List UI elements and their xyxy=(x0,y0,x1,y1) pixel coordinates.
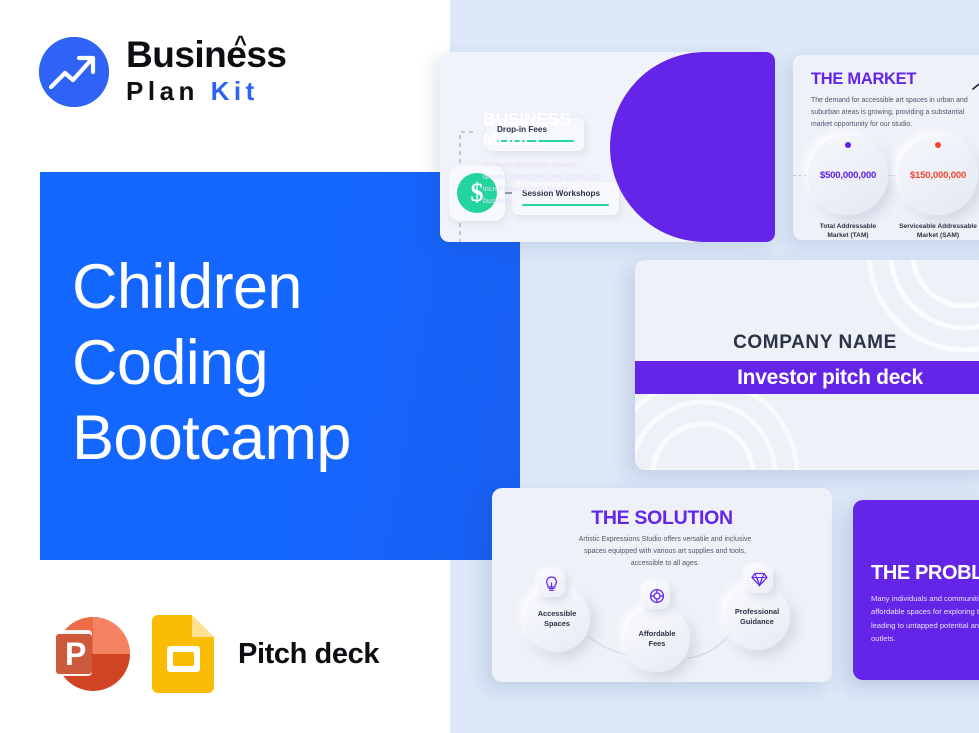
business-model-body: Revenue generation through diverse strea… xyxy=(483,159,601,207)
target-circle-icon xyxy=(643,582,670,609)
cover-subtitle-band: Investor pitch deck xyxy=(635,361,979,394)
solution-node-label: Accessible Spaces xyxy=(538,609,577,630)
circumflex-icon: ^ xyxy=(234,33,246,55)
solution-node-label: Affordable Fees xyxy=(639,629,676,650)
market-metric-caption-line1: Serviceable Addressable xyxy=(893,222,979,231)
page-title-line1: Children xyxy=(72,250,502,326)
market-metric[interactable]: $500,000,000 Total Addressable Market (T… xyxy=(803,135,893,240)
solution-node-label-line2: Spaces xyxy=(538,619,577,629)
market-metric-caption: Total Addressable Market (TAM) xyxy=(803,222,893,240)
solution-title: THE SOLUTION xyxy=(492,507,832,530)
market-metric-circle: $500,000,000 xyxy=(808,135,888,215)
format-badges: P Pitch deck xyxy=(40,608,379,700)
slide-cover[interactable]: COMPANY NAME Investor pitch deck xyxy=(635,260,979,470)
slide-solution[interactable]: THE SOLUTION Artistic Expressions Studio… xyxy=(492,488,832,682)
page-title-line2: Coding xyxy=(72,326,502,402)
status-dot xyxy=(935,142,941,148)
market-metric-caption-line1: Total Addressable xyxy=(803,222,893,231)
market-metric-caption-line2: Market (TAM) xyxy=(803,231,893,240)
solution-node-label: Professional Guidance xyxy=(735,607,779,628)
growth-arrow-circle-icon xyxy=(39,37,109,107)
market-metric-amount: $500,000,000 xyxy=(820,170,876,181)
market-metric-circle: $150,000,000 xyxy=(898,135,978,215)
cover-subtitle: Investor pitch deck xyxy=(737,366,923,390)
slide-business-model[interactable]: Drop-in Fees Session Workshops Commissio… xyxy=(440,52,775,242)
market-metric[interactable]: $150,000,000 Serviceable Addressable Mar… xyxy=(893,135,979,240)
business-model-title: BUSINESS MODEL xyxy=(483,110,598,150)
company-name: COMPANY NAME xyxy=(635,332,979,354)
solution-node-label-line2: Fees xyxy=(639,639,676,649)
brand-logo-line1-text: Business xyxy=(126,34,287,75)
svg-text:P: P xyxy=(65,636,86,672)
poster-canvas: Business ^ Plan Kit Children Coding Boot… xyxy=(0,0,979,733)
slide-problem[interactable]: THE PROBLEM Many individuals and communi… xyxy=(853,500,979,680)
solution-node-label-line1: Affordable xyxy=(639,629,676,639)
solution-node-circle: Professional Guidance xyxy=(724,584,790,650)
page-title-line3: Bootcamp xyxy=(72,401,502,477)
slide-market[interactable]: THE MARKET The demand for accessible art… xyxy=(793,55,979,240)
brand-logo-text: Business ^ Plan Kit xyxy=(126,36,287,107)
google-slides-icon xyxy=(152,615,214,693)
solution-node-label-line1: Professional xyxy=(735,607,779,617)
business-model-panel xyxy=(610,52,775,242)
solution-node[interactable]: Accessible Spaces xyxy=(524,586,590,652)
brand-logo-line2: Plan Kit xyxy=(126,75,287,108)
solution-node-circle: Affordable Fees xyxy=(624,606,690,672)
market-title: THE MARKET xyxy=(811,70,916,89)
solution-node[interactable]: Professional Guidance xyxy=(724,584,790,650)
market-metric-amount: $150,000,000 xyxy=(910,170,966,181)
microsoft-powerpoint-icon: P xyxy=(40,608,132,700)
solution-node[interactable]: Affordable Fees xyxy=(624,606,690,672)
format-badges-label: Pitch deck xyxy=(238,638,379,671)
solution-node-label-line1: Accessible xyxy=(538,609,577,619)
diamond-icon xyxy=(746,566,773,593)
business-model-title-line1: BUSINESS xyxy=(483,110,598,130)
problem-body: Many individuals and communities lack ac… xyxy=(871,592,979,645)
brand-logo-kit: Kit xyxy=(211,76,259,106)
page-title: Children Coding Bootcamp xyxy=(72,250,502,477)
solution-body: Artistic Expressions Studio offers versa… xyxy=(570,534,760,569)
market-body: The demand for accessible art spaces in … xyxy=(811,95,968,131)
brand-logo-line1: Business ^ xyxy=(126,36,287,74)
solution-node-label-line2: Guidance xyxy=(735,617,779,627)
market-metric-caption-line2: Market (SAM) xyxy=(893,231,979,240)
brand-logo: Business ^ Plan Kit xyxy=(39,36,287,107)
status-dot xyxy=(845,142,851,148)
curved-arrow-icon xyxy=(971,73,979,130)
brand-logo-plan: Plan xyxy=(126,76,211,106)
lightbulb-icon xyxy=(538,570,565,597)
problem-title: THE PROBLEM xyxy=(871,562,979,585)
market-metric-caption: Serviceable Addressable Market (SAM) xyxy=(893,222,979,240)
business-model-title-line2: MODEL xyxy=(483,130,598,150)
